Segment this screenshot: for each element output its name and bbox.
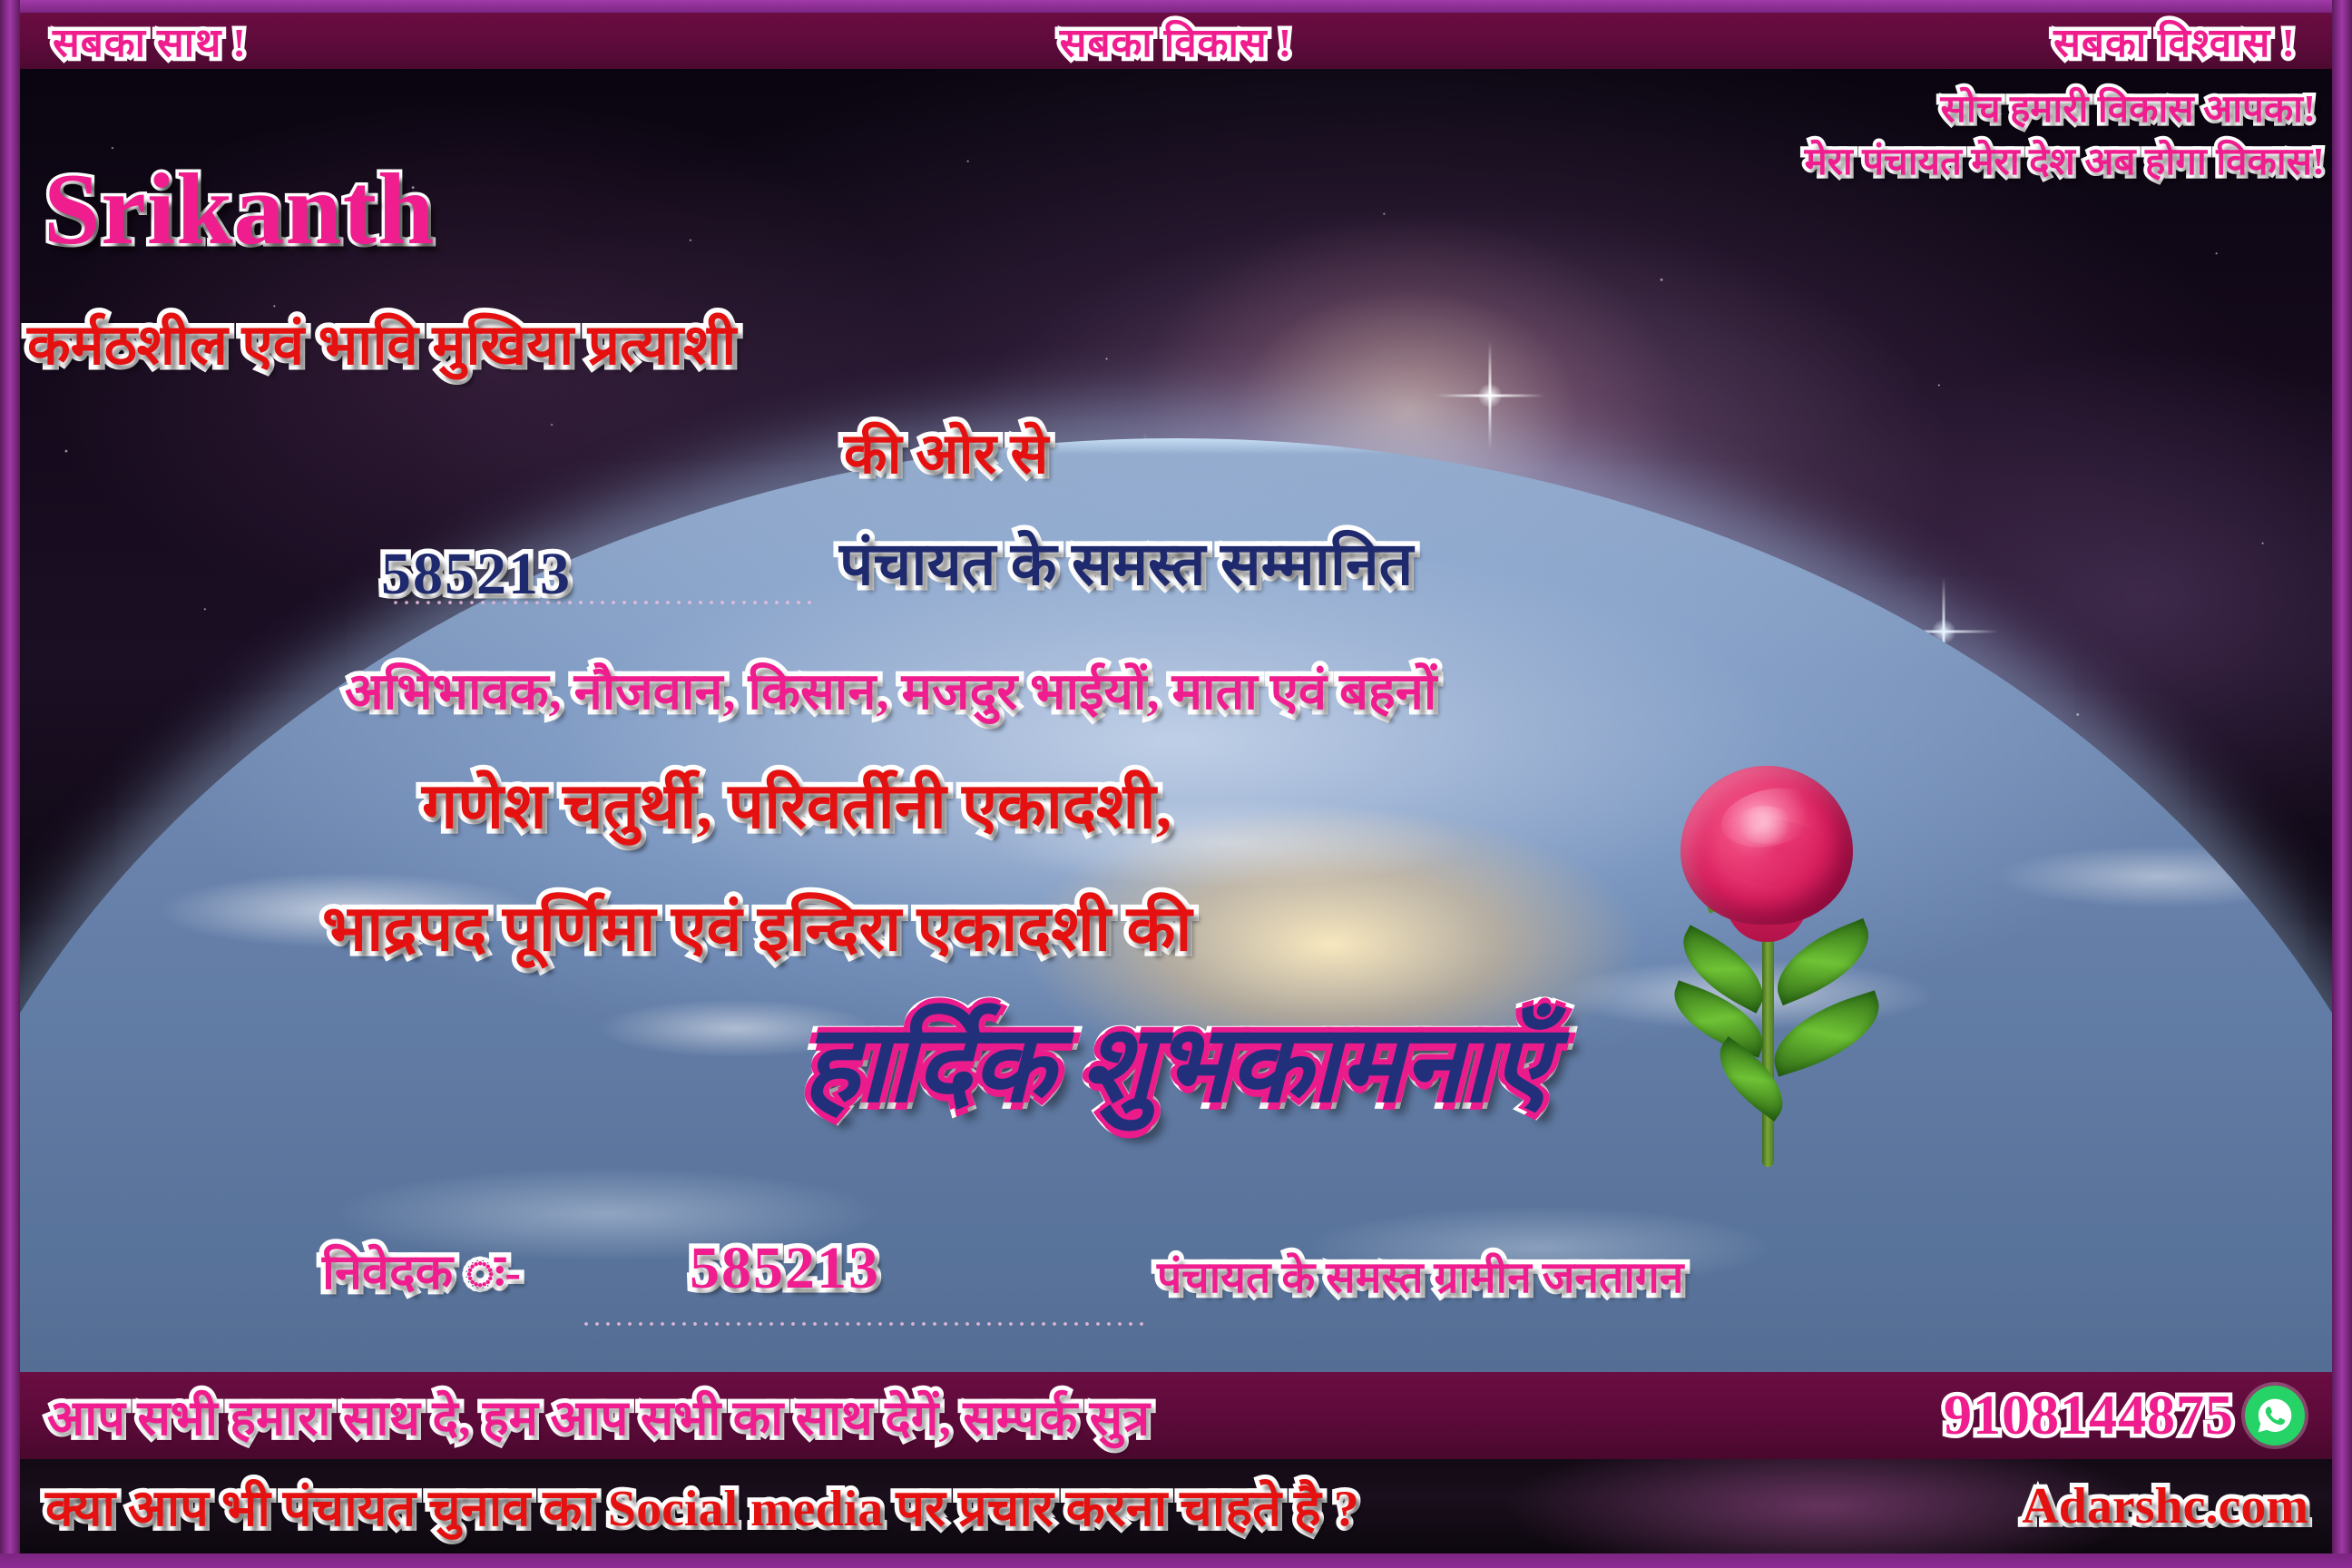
- slogan-sabka-vishwas: सबका विश्वास !: [2053, 14, 2296, 68]
- slogan-sabka-saath: सबका साथ !: [53, 14, 247, 68]
- footer-support-text: आप सभी हमारा साथ दे, हम आप सभी का साथ दे…: [47, 1382, 1150, 1449]
- rose-flower-icon: [1668, 759, 1886, 1167]
- frame-left-edge: [0, 0, 20, 1568]
- galaxy-background: [20, 69, 2332, 1387]
- dotted-leader-bottom: [581, 1320, 1143, 1328]
- election-greeting-poster: सबका साथ ! सबका विकास ! सबका विश्वास ! स…: [0, 0, 2352, 1568]
- corner-slogan-line-2: मेरा पंचायत मेरा देश अब होगा विकास!: [1805, 143, 2325, 181]
- slogan-sabka-vikas: सबका विकास !: [1060, 14, 1293, 68]
- footer-promo-text: क्या आप भी पंचायत चुनाव का Social media …: [45, 1472, 1359, 1541]
- pin-code-middle: 585213: [381, 544, 572, 604]
- signature-pin-code: 585213: [690, 1239, 880, 1298]
- frame-right-edge: [2332, 0, 2352, 1568]
- whatsapp-icon[interactable]: [2245, 1386, 2305, 1445]
- rose-petal: [1735, 806, 1795, 844]
- line-sammanit: पंचायत के समस्त सम्मानित: [839, 535, 1413, 595]
- rose-bloom: [1681, 766, 1853, 925]
- top-slogan-band: सबका साथ ! सबका विकास ! सबका विश्वास !: [20, 13, 2332, 69]
- frame-bottom-edge: [0, 1553, 2352, 1568]
- candidate-name: Srikanth: [44, 159, 435, 260]
- website-link[interactable]: Adarshc.com: [2022, 1477, 2308, 1535]
- line-festivals-1: गणेश चतुर्थी, परिवर्तीनी एकादशी,: [422, 776, 1171, 839]
- line-abhibhavak: अभिभावक, नौजवान, किसान, मजदुर भाईयों, मा…: [345, 667, 1436, 718]
- contact-phone-number[interactable]: 9108144875: [1944, 1384, 2234, 1448]
- corner-slogan-line-1: सोच हमारी विकास आपका!: [1941, 91, 2316, 129]
- greeting-headline: हार्दिक शुभकामनाएँ: [803, 1012, 1550, 1119]
- line-festivals-2: भाद्रपद पूर्णिमा एवं इन्दिरा एकादशी की: [322, 898, 1192, 962]
- candidate-designation-line-2: की ओर से: [844, 426, 1048, 483]
- footer-support-band: आप सभी हमारा साथ दे, हम आप सभी का साथ दे…: [20, 1372, 2332, 1459]
- signature-label: निवेदक ः-: [322, 1248, 521, 1297]
- footer-promo-band: क्या आप भी पंचायत चुनाव का Social media …: [20, 1459, 2332, 1553]
- frame-top-edge: [0, 0, 2352, 13]
- signature-rest: पंचायत के समस्त ग्रामीन जनतागन: [1157, 1257, 1683, 1300]
- candidate-designation-line-1: कर्मठशील एवं भावि मुखिया प्रत्याशी: [27, 318, 736, 374]
